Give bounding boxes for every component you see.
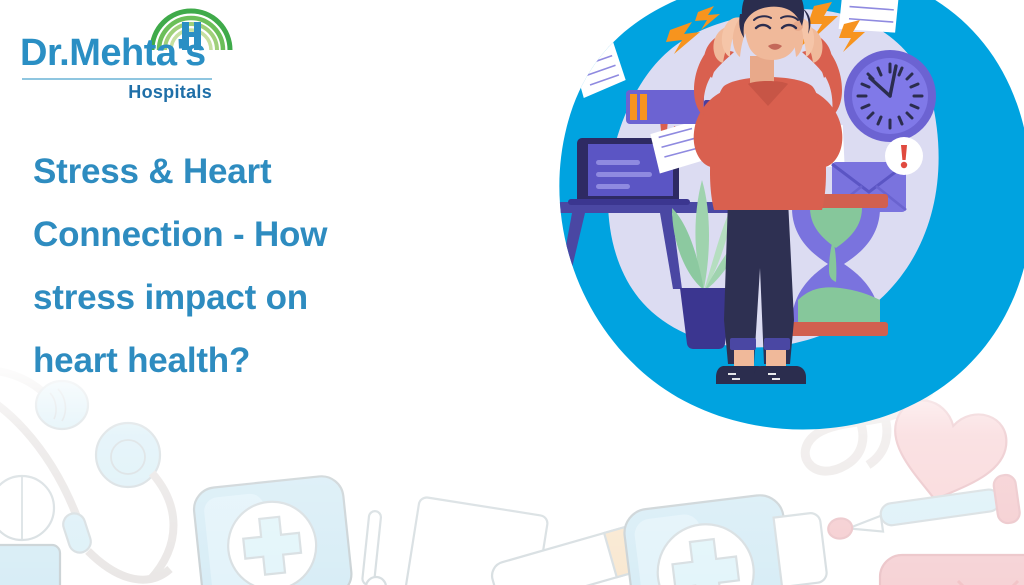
potted-plant — [672, 180, 748, 349]
headline-line-2: Connection - How — [33, 203, 473, 266]
blog-banner: Dr.Mehta's Hospitals Stress & Heart Conn… — [0, 0, 1024, 585]
clipboard-icon — [401, 496, 548, 585]
headline-line-3: stress impact on — [33, 266, 473, 329]
stethoscope-icon — [0, 370, 174, 580]
envelope-alert-icon — [832, 137, 923, 212]
bandage-icon — [489, 508, 704, 585]
first-aid-kit-icon — [0, 545, 60, 585]
stressed-man — [694, 0, 843, 384]
flying-paper-icon — [784, 119, 849, 175]
stressed-man-at-work-illustration — [552, 0, 1024, 450]
flying-paper-icon — [570, 36, 627, 98]
low-battery-icon — [626, 90, 711, 124]
desk — [558, 202, 764, 289]
logo-divider — [22, 78, 212, 80]
brand-logo[interactable]: Dr.Mehta's Hospitals — [20, 8, 235, 100]
thermometer-icon — [362, 511, 386, 585]
dropper-icon — [824, 474, 1021, 548]
inner-lavender-blob — [608, 9, 939, 347]
heart-icon — [880, 395, 1012, 514]
page-title: Stress & Heart Connection - How stress i… — [33, 140, 473, 392]
anger-lightning-bolt-icon — [666, 6, 720, 54]
first-aid-kit-icon — [880, 555, 1024, 585]
headline-line-1: Stress & Heart — [33, 140, 473, 203]
laptop-icon — [568, 120, 690, 205]
flying-paper-icon — [649, 119, 707, 174]
blue-backdrop-blob — [559, 0, 1024, 430]
logo-wordmark: Dr.Mehta's — [20, 32, 206, 75]
first-aid-kit-icon — [622, 488, 832, 585]
anger-lightning-bolt-icon — [794, 2, 865, 52]
first-aid-kit-icon — [192, 474, 354, 585]
flying-paper-icon — [833, 0, 907, 40]
hourglass-icon — [784, 194, 888, 336]
headline-line-4: heart health? — [33, 329, 473, 392]
pill-icon — [0, 476, 54, 540]
stethoscope-icon — [805, 361, 930, 471]
wall-clock-icon — [844, 50, 936, 142]
logo-subtitle: Hospitals — [20, 82, 212, 103]
